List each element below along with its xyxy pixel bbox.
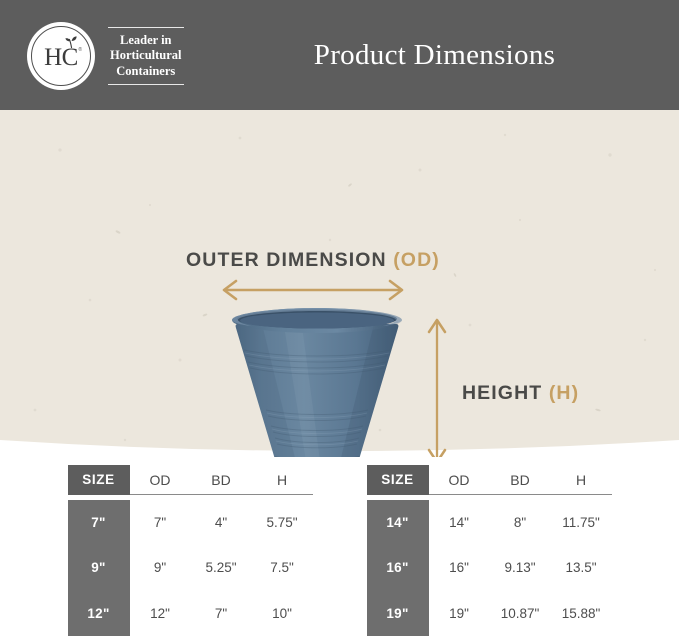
cell-size: 19" [367, 591, 429, 636]
cell-size: 14" [367, 500, 429, 545]
cell-bd: 10.87" [490, 591, 551, 636]
tagline-line-3: Containers [110, 64, 182, 80]
outer-dimension-arrow [218, 278, 408, 302]
column-header-bd: BD [191, 465, 252, 495]
outer-dimension-label: OUTER DIMENSION (OD) [186, 249, 440, 272]
cell-bd: 4" [191, 500, 252, 545]
size-table-small: SIZE OD BD H 7" 7" 4" 5.75" 9" 9" 5.25" … [68, 465, 313, 636]
cell-od: 12" [130, 591, 191, 636]
cell-bd: 8" [490, 500, 551, 545]
table-row: 9" 9" 5.25" 7.5" [68, 545, 313, 590]
cell-h: 15.88" [551, 591, 612, 636]
logo-monogram: HC [27, 22, 95, 90]
cell-size: 16" [367, 545, 429, 590]
column-header-size: SIZE [367, 465, 429, 495]
column-header-size: SIZE [68, 465, 130, 495]
logo-trademark: ® [78, 47, 82, 53]
cell-bd: 7" [191, 591, 252, 636]
column-header-od: OD [130, 465, 191, 495]
table-row: 7" 7" 4" 5.75" [68, 500, 313, 545]
cell-od: 19" [429, 591, 490, 636]
column-header-bd: BD [490, 465, 551, 495]
column-header-h: H [551, 465, 612, 495]
height-arrow [425, 315, 449, 457]
height-abbr: (H) [549, 382, 579, 404]
outer-dimension-name: OUTER DIMENSION [186, 249, 387, 271]
size-table-large: SIZE OD BD H 14" 14" 8" 11.75" 16" 16" 9… [367, 465, 612, 636]
table-header-row: SIZE OD BD H [68, 465, 313, 495]
column-header-od: OD [429, 465, 490, 495]
cell-h: 7.5" [252, 545, 313, 590]
cell-h: 5.75" [252, 500, 313, 545]
cell-h: 10" [252, 591, 313, 636]
size-tables: SIZE OD BD H 7" 7" 4" 5.75" 9" 9" 5.25" … [0, 465, 679, 636]
tagline-line-2: Horticultural [110, 48, 182, 64]
cell-od: 16" [429, 545, 490, 590]
height-name: HEIGHT [462, 382, 542, 404]
cell-bd: 5.25" [191, 545, 252, 590]
tagline-line-1: Leader in [110, 33, 182, 49]
table-header-row: SIZE OD BD H [367, 465, 612, 495]
cell-h: 11.75" [551, 500, 612, 545]
hc-logo: HC ® [27, 22, 95, 90]
cell-od: 9" [130, 545, 191, 590]
brand-lockup: HC ® Leader in Horticultural Containers [27, 22, 184, 90]
diagram-panel: OUTER DIMENSION (OD) [0, 110, 679, 457]
height-label: HEIGHT (H) [462, 382, 579, 405]
page-header: HC ® Leader in Horticultural Containers … [0, 0, 679, 110]
planter-pot-illustration [222, 306, 412, 457]
table-row: 19" 19" 10.87" 15.88" [367, 591, 612, 636]
cell-size: 9" [68, 545, 130, 590]
column-header-h: H [252, 465, 313, 495]
cell-size: 12" [68, 591, 130, 636]
table-row: 16" 16" 9.13" 13.5" [367, 545, 612, 590]
cell-od: 14" [429, 500, 490, 545]
cell-bd: 9.13" [490, 545, 551, 590]
cell-h: 13.5" [551, 545, 612, 590]
cell-size: 7" [68, 500, 130, 545]
table-row: 12" 12" 7" 10" [68, 591, 313, 636]
brand-tagline: Leader in Horticultural Containers [108, 27, 184, 86]
table-row: 14" 14" 8" 11.75" [367, 500, 612, 545]
outer-dimension-abbr: (OD) [393, 249, 440, 271]
cell-od: 7" [130, 500, 191, 545]
